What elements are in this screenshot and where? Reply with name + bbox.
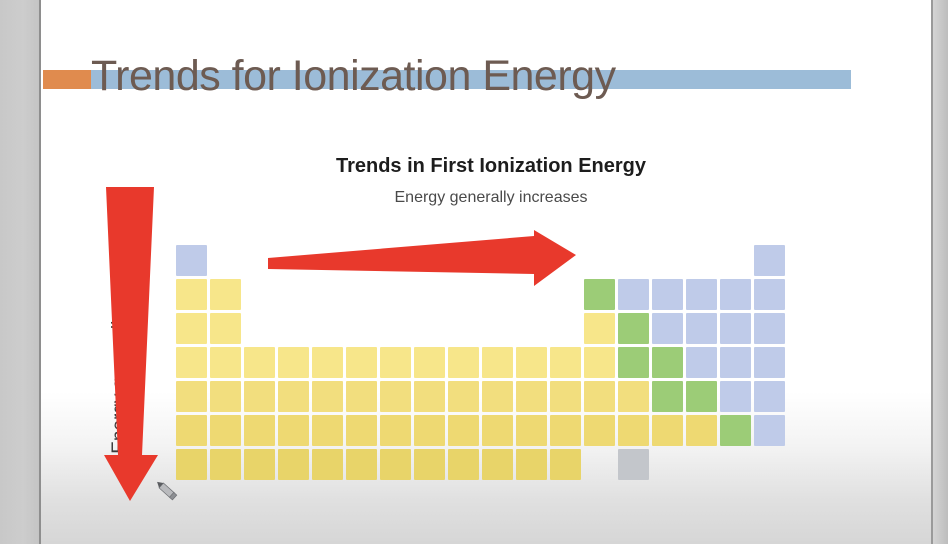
periodic-cell-r5-c7 — [380, 381, 411, 412]
periodic-cell-r6-c16 — [686, 415, 717, 446]
periodic-cell-r4-c8 — [414, 347, 445, 378]
periodic-cell-r6-c5 — [312, 415, 343, 446]
periodic-cell-r6-c17 — [720, 415, 751, 446]
periodic-cell-r7-c9 — [448, 449, 479, 480]
periodic-cell-r7-c4 — [278, 449, 309, 480]
periodic-cell-r5-c9 — [448, 381, 479, 412]
periodic-cell-r7-c12 — [550, 449, 581, 480]
periodic-cell-r6-c9 — [448, 415, 479, 446]
periodic-cell-r5-c1 — [176, 381, 207, 412]
periodic-cell-r7-c10 — [482, 449, 513, 480]
periodic-cell-r4-c1 — [176, 347, 207, 378]
periodic-cell-r5-c4 — [278, 381, 309, 412]
periodic-cell-r2-c14 — [618, 279, 649, 310]
periodic-cell-r6-c4 — [278, 415, 309, 446]
periodic-cell-r7-c5 — [312, 449, 343, 480]
periodic-cell-r5-c12 — [550, 381, 581, 412]
periodic-cell-r6-c15 — [652, 415, 683, 446]
periodic-cell-r4-c15 — [652, 347, 683, 378]
periodic-cell-r7-c1 — [176, 449, 207, 480]
periodic-cell-r6-c18 — [754, 415, 785, 446]
increases-right-arrow — [266, 228, 578, 288]
periodic-cell-r3-c13 — [584, 313, 615, 344]
periodic-cell-r7-c6 — [346, 449, 377, 480]
periodic-cell-r5-c14 — [618, 381, 649, 412]
periodic-cell-r6-c14 — [618, 415, 649, 446]
periodic-cell-r6-c8 — [414, 415, 445, 446]
periodic-cell-r2-c16 — [686, 279, 717, 310]
periodic-cell-r7-c8 — [414, 449, 445, 480]
periodic-cell-r5-c15 — [652, 381, 683, 412]
periodic-cell-r4-c11 — [516, 347, 547, 378]
decreases-down-arrow — [103, 183, 165, 503]
page-title: Trends for Ionization Energy — [91, 48, 891, 104]
periodic-cell-r3-c15 — [652, 313, 683, 344]
slide-canvas[interactable]: Trends for Ionization Energy Trends in F… — [41, 0, 931, 544]
periodic-cell-r7-c11 — [516, 449, 547, 480]
periodic-cell-r5-c17 — [720, 381, 751, 412]
periodic-cell-r5-c11 — [516, 381, 547, 412]
title-accent-orange — [43, 70, 91, 89]
periodic-cell-r6-c2 — [210, 415, 241, 446]
periodic-cell-r2-c15 — [652, 279, 683, 310]
periodic-cell-r1-c1 — [176, 245, 207, 276]
right-gutter — [933, 0, 948, 544]
periodic-cell-r3-c18 — [754, 313, 785, 344]
periodic-cell-r1-c18 — [754, 245, 785, 276]
pencil-cursor — [153, 478, 181, 504]
periodic-cell-r4-c2 — [210, 347, 241, 378]
periodic-cell-r3-c14 — [618, 313, 649, 344]
periodic-cell-r5-c6 — [346, 381, 377, 412]
periodic-cell-r5-c10 — [482, 381, 513, 412]
periodic-cell-r3-c17 — [720, 313, 751, 344]
periodic-cell-r7-c14 — [618, 449, 649, 480]
periodic-cell-r6-c10 — [482, 415, 513, 446]
periodic-cell-r4-c5 — [312, 347, 343, 378]
periodic-cell-r5-c18 — [754, 381, 785, 412]
periodic-cell-r4-c10 — [482, 347, 513, 378]
periodic-cell-r2-c17 — [720, 279, 751, 310]
periodic-cell-r4-c4 — [278, 347, 309, 378]
periodic-cell-r5-c8 — [414, 381, 445, 412]
periodic-cell-r2-c13 — [584, 279, 615, 310]
periodic-cell-r4-c3 — [244, 347, 275, 378]
slide-viewer: Trends for Ionization Energy Trends in F… — [0, 0, 948, 544]
periodic-cell-r6-c11 — [516, 415, 547, 446]
periodic-cell-r4-c7 — [380, 347, 411, 378]
periodic-cell-r6-c3 — [244, 415, 275, 446]
periodic-cell-r6-c12 — [550, 415, 581, 446]
left-gutter — [0, 0, 39, 544]
periodic-cell-r6-c13 — [584, 415, 615, 446]
periodic-cell-r4-c18 — [754, 347, 785, 378]
periodic-cell-r4-c13 — [584, 347, 615, 378]
periodic-cell-r4-c14 — [618, 347, 649, 378]
periodic-cell-r5-c16 — [686, 381, 717, 412]
periodic-cell-r4-c9 — [448, 347, 479, 378]
periodic-cell-r7-c7 — [380, 449, 411, 480]
periodic-cell-r5-c2 — [210, 381, 241, 412]
periodic-cell-r7-c3 — [244, 449, 275, 480]
periodic-cell-r4-c6 — [346, 347, 377, 378]
periodic-cell-r6-c6 — [346, 415, 377, 446]
periodic-cell-r5-c3 — [244, 381, 275, 412]
periodic-cell-r3-c16 — [686, 313, 717, 344]
periodic-cell-r5-c5 — [312, 381, 343, 412]
periodic-cell-r4-c12 — [550, 347, 581, 378]
periodic-cell-r4-c17 — [720, 347, 751, 378]
periodic-cell-r5-c13 — [584, 381, 615, 412]
figure-title: Trends in First Ionization Energy — [221, 155, 761, 178]
periodic-cell-r6-c1 — [176, 415, 207, 446]
periodic-cell-r6-c7 — [380, 415, 411, 446]
periodic-cell-r3-c1 — [176, 313, 207, 344]
periodic-cell-r2-c1 — [176, 279, 207, 310]
periodic-cell-r4-c16 — [686, 347, 717, 378]
figure-subtitle: Energy generally increases — [221, 189, 761, 207]
periodic-cell-r2-c2 — [210, 279, 241, 310]
periodic-cell-r3-c2 — [210, 313, 241, 344]
periodic-cell-r7-c2 — [210, 449, 241, 480]
periodic-cell-r2-c18 — [754, 279, 785, 310]
